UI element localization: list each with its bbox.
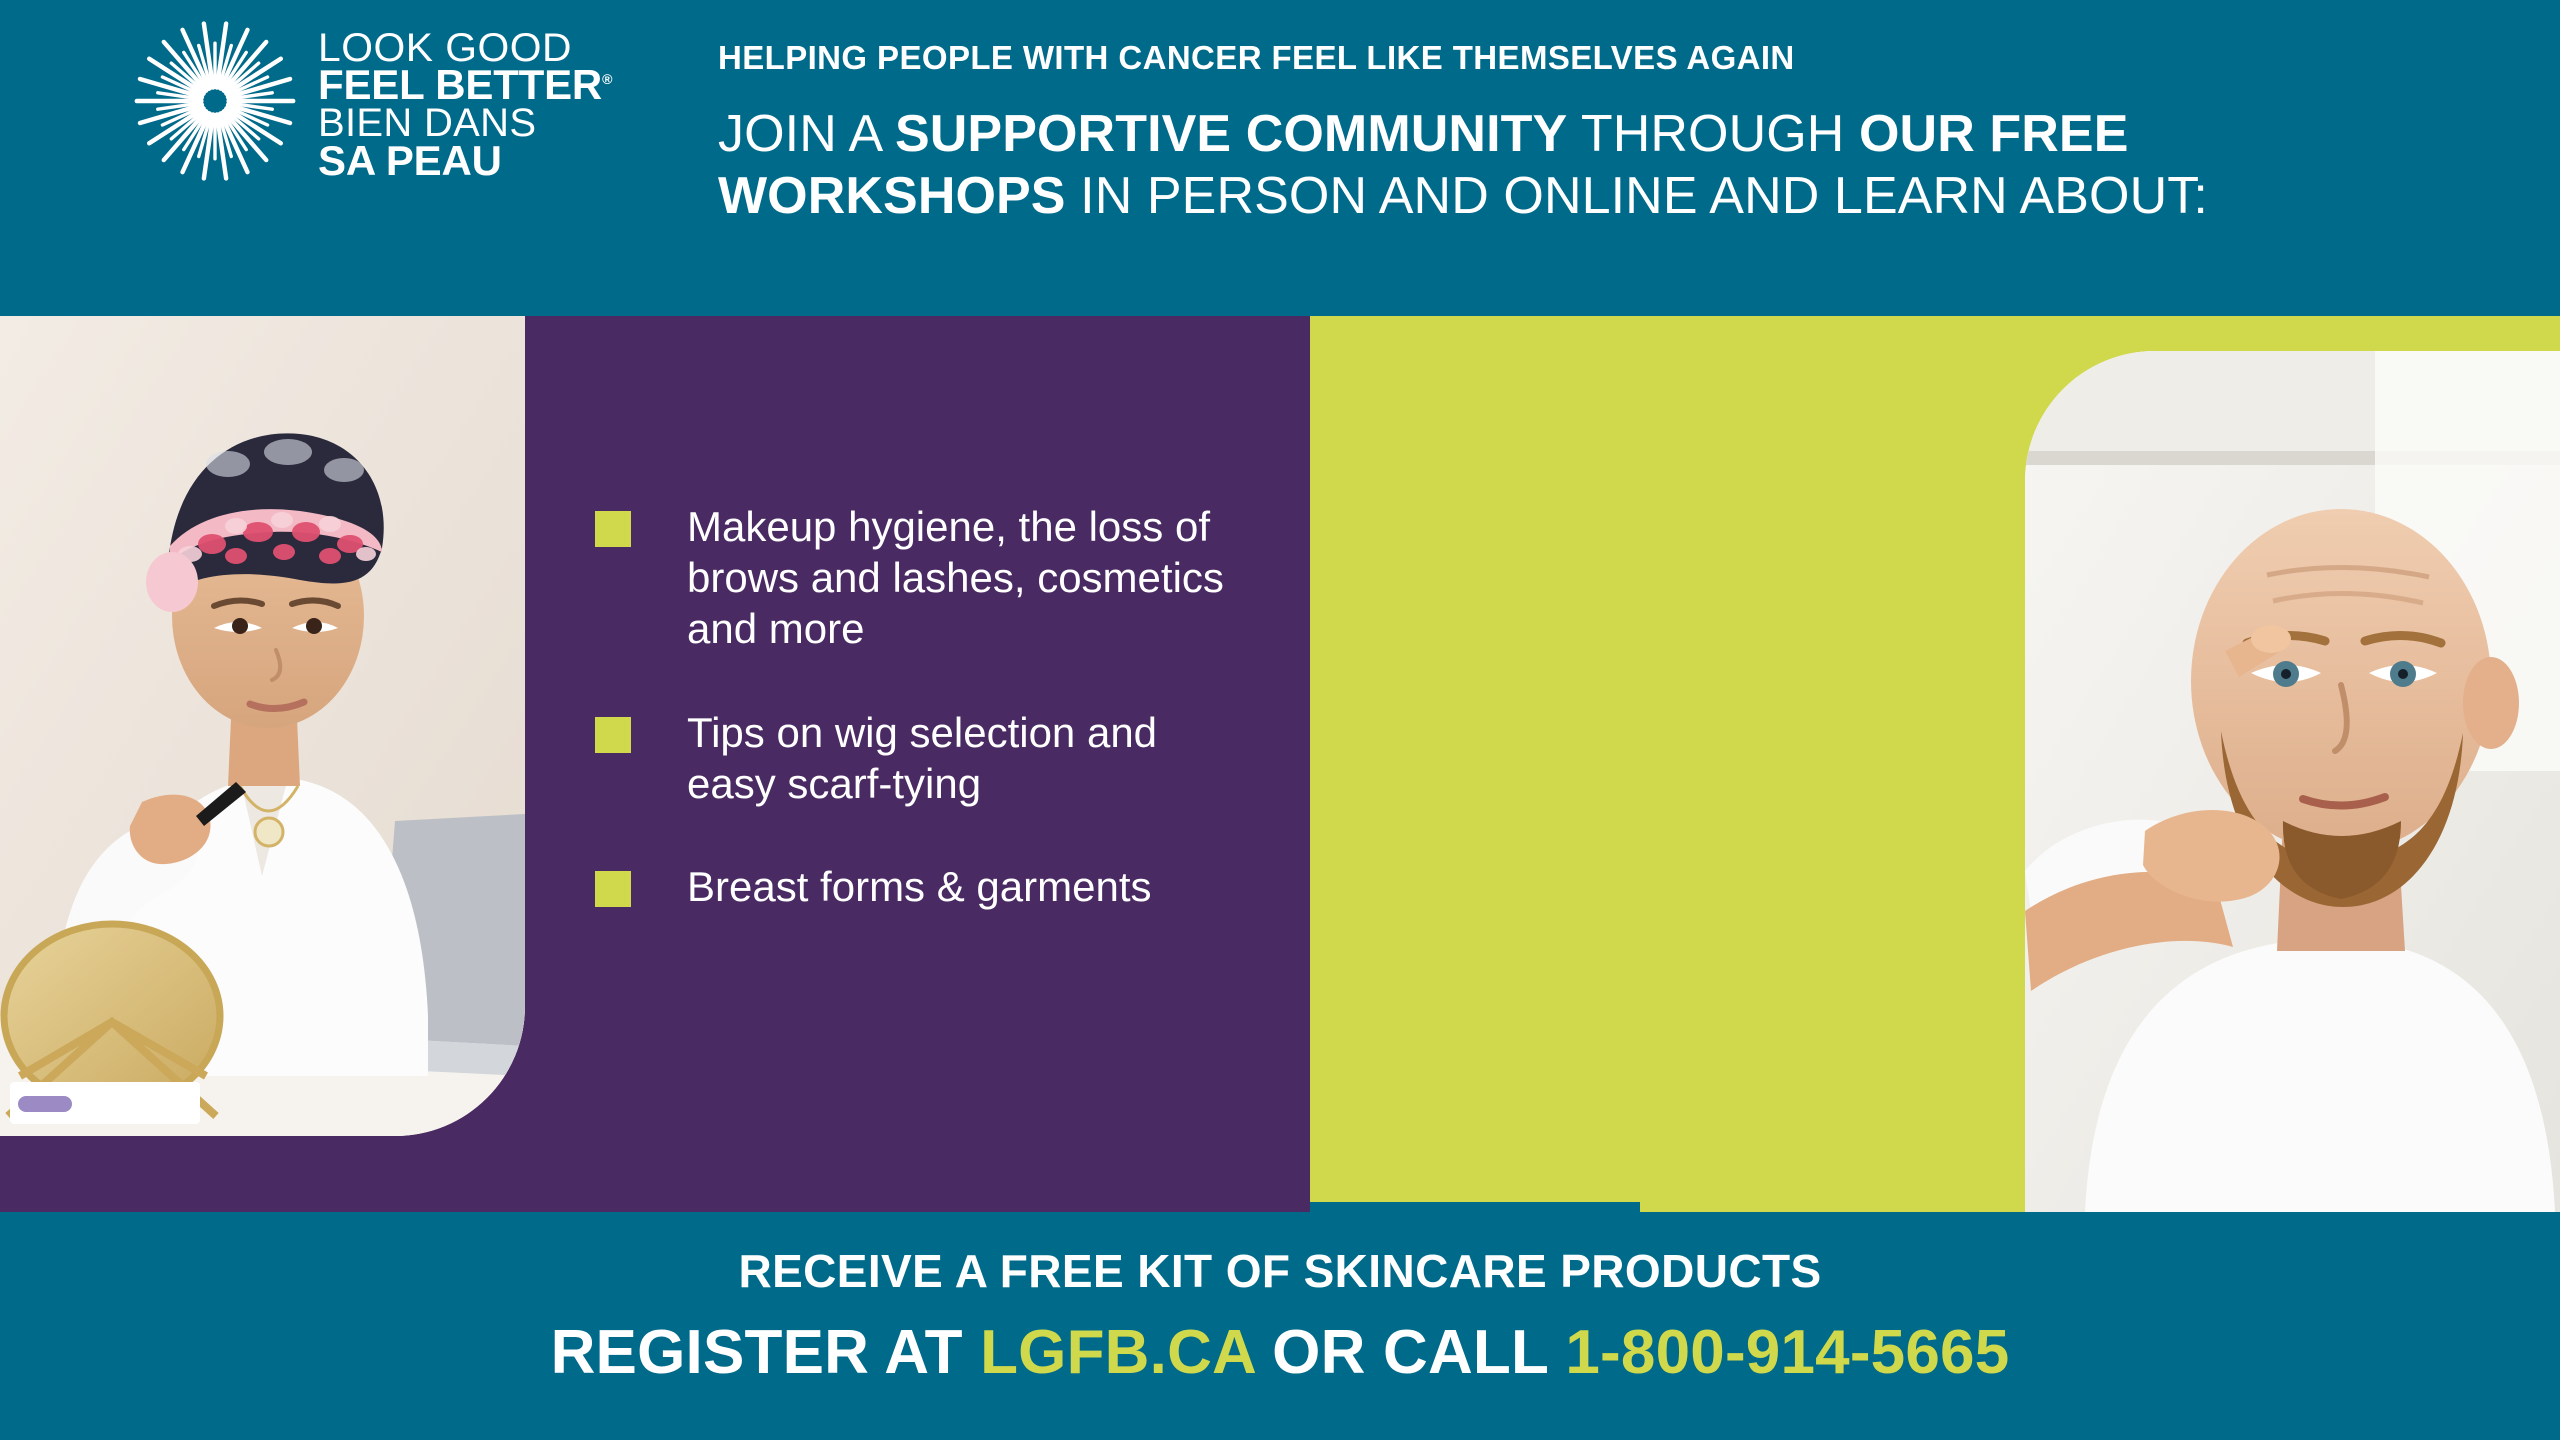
headline-part-2: THROUGH xyxy=(1567,105,1859,163)
panel-purple: Makeup hygiene, the loss of brows and la… xyxy=(0,316,1310,1212)
starburst-icon xyxy=(130,16,300,186)
bullet-square-icon xyxy=(595,871,631,907)
headline-part-0: JOIN A xyxy=(718,105,895,163)
header-copy: HELPING PEOPLE WITH CANCER FEEL LIKE THE… xyxy=(718,40,2480,227)
bullet-square-icon xyxy=(595,511,631,547)
footer-kit-line: RECEIVE A FREE KIT OF SKINCARE PRODUCTS xyxy=(0,1212,2560,1297)
logo-line-4: SA PEAU xyxy=(318,142,612,181)
list-item: Breast forms & garments xyxy=(595,861,1235,912)
poster: LOOK GOOD FEEL BETTER® BIEN DANS SA PEAU… xyxy=(0,0,2560,1440)
website-link[interactable]: LGFB.CA xyxy=(980,1318,1255,1387)
register-prefix: REGISTER AT xyxy=(551,1318,981,1387)
headline-part-4: IN PERSON AND ONLINE AND LEARN ABOUT: xyxy=(1066,167,2208,225)
footer-banner: RECEIVE A FREE KIT OF SKINCARE PRODUCTS … xyxy=(0,1212,2560,1440)
woman-applying-makeup-photo xyxy=(0,316,525,1136)
registered-mark: ® xyxy=(602,71,612,87)
list-item: Makeup hygiene, the loss of brows and la… xyxy=(595,501,1235,655)
man-checking-eyebrow-photo xyxy=(2025,351,2560,1212)
bullet-square-icon xyxy=(595,717,631,753)
footer-register-line: REGISTER AT LGFB.CA OR CALL 1-800-914-56… xyxy=(0,1319,2560,1387)
phone-number[interactable]: 1-800-914-5665 xyxy=(1565,1318,2009,1387)
list-item: Tips on wig selection and easy scarf-tyi… xyxy=(595,707,1235,809)
content-band: Makeup hygiene, the loss of brows and la… xyxy=(0,316,2560,1212)
purple-bullet-list: Makeup hygiene, the loss of brows and la… xyxy=(595,501,1235,912)
logo-line-2-text: FEEL BETTER xyxy=(318,61,602,108)
logo-wordmark: LOOK GOOD FEEL BETTER® BIEN DANS SA PEAU xyxy=(318,26,612,181)
header-banner: LOOK GOOD FEEL BETTER® BIEN DANS SA PEAU… xyxy=(0,0,2560,316)
headline: JOIN A SUPPORTIVE COMMUNITY THROUGH OUR … xyxy=(718,104,2478,227)
register-middle: OR CALL xyxy=(1255,1318,1566,1387)
list-item-label: Breast forms & garments xyxy=(687,861,1151,912)
tagline: HELPING PEOPLE WITH CANCER FEEL LIKE THE… xyxy=(718,40,2480,76)
logo-line-2: FEEL BETTER® xyxy=(318,66,612,105)
brand-logo[interactable]: LOOK GOOD FEEL BETTER® BIEN DANS SA PEAU xyxy=(130,28,650,178)
list-item-label: Makeup hygiene, the loss of brows and la… xyxy=(687,501,1235,655)
band-divider xyxy=(1310,1202,1640,1212)
list-item-label: Tips on wig selection and easy scarf-tyi… xyxy=(687,707,1235,809)
headline-part-1: SUPPORTIVE COMMUNITY xyxy=(895,105,1567,163)
